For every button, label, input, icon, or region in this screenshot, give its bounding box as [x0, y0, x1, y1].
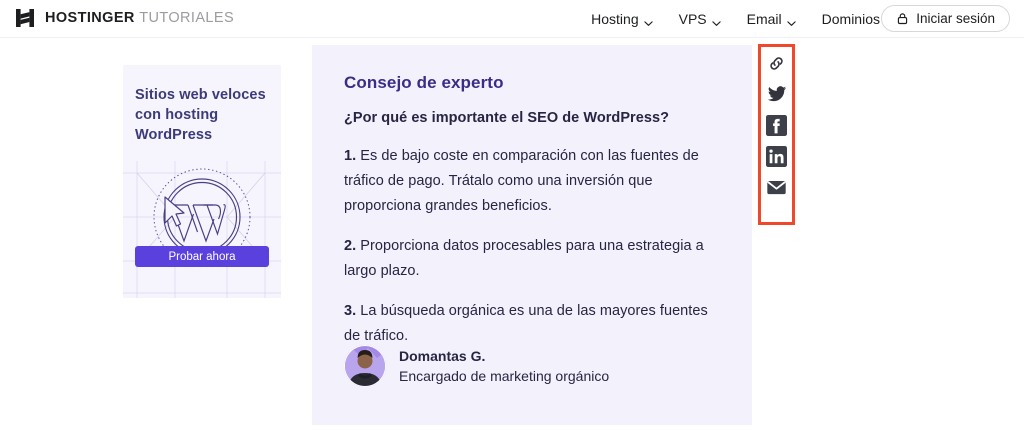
nav-item-label: Hosting	[591, 11, 638, 27]
lock-icon	[896, 12, 909, 25]
twitter-icon[interactable]	[766, 83, 788, 105]
promo-banner[interactable]: Sitios web veloces con hosting WordPress…	[123, 65, 281, 298]
chevron-down-icon	[644, 15, 653, 24]
expert-tip-heading: Consejo de experto	[344, 73, 720, 93]
tip-point-number: 1.	[344, 148, 356, 164]
tip-point-number: 3.	[344, 303, 356, 319]
tip-point-text: La búsqueda orgánica es una de las mayor…	[344, 303, 708, 344]
author-role: Encargado de marketing orgánico	[399, 366, 609, 387]
email-icon[interactable]	[766, 176, 788, 198]
main-nav: Hosting VPS Email Dominios	[591, 0, 894, 38]
facebook-icon[interactable]	[766, 114, 788, 136]
tip-point-text: Proporciona datos procesables para una e…	[344, 238, 704, 279]
tip-point: 1. Es de bajo coste en comparación con l…	[344, 144, 720, 219]
site-header: HOSTINGER TUTORIALES Hosting VPS Email	[0, 0, 1024, 38]
login-button[interactable]: Iniciar sesión	[881, 5, 1010, 32]
page-root: primeros resultados de búsqueda obtienen…	[0, 0, 1024, 446]
brand-logo[interactable]: HOSTINGER TUTORIALES	[14, 7, 234, 29]
nav-item-email[interactable]: Email	[747, 11, 796, 27]
brand-suffix: TUTORIALES	[139, 10, 234, 26]
nav-item-label: Email	[747, 11, 782, 27]
promo-title: Sitios web veloces con hosting WordPress	[135, 85, 275, 145]
nav-item-label: VPS	[679, 11, 707, 27]
chevron-down-icon	[787, 15, 796, 24]
tip-point: 2. Proporciona datos procesables para un…	[344, 234, 720, 284]
login-button-label: Iniciar sesión	[916, 11, 995, 26]
brand-text: HOSTINGER TUTORIALES	[45, 7, 234, 29]
author-block: Domantas G. Encargado de marketing orgán…	[344, 345, 609, 387]
expert-tip-subheading: ¿Por qué es importante el SEO de WordPre…	[344, 110, 720, 126]
linkedin-icon[interactable]	[766, 145, 788, 167]
author-info: Domantas G. Encargado de marketing orgán…	[399, 346, 609, 387]
nav-item-vps[interactable]: VPS	[679, 11, 721, 27]
tip-point-number: 2.	[344, 238, 356, 254]
tip-point: 3. La búsqueda orgánica es una de las ma…	[344, 299, 720, 349]
tip-point-text: Es de bajo coste en comparación con las …	[344, 148, 699, 214]
nav-item-hosting[interactable]: Hosting	[591, 11, 652, 27]
hostinger-h-logo-icon	[14, 7, 36, 29]
copy-link-icon[interactable]	[766, 52, 788, 74]
author-avatar	[344, 345, 386, 387]
chevron-down-icon	[712, 15, 721, 24]
nav-item-label: Dominios	[822, 11, 880, 27]
brand-name: HOSTINGER	[45, 10, 135, 26]
promo-cta-button[interactable]: Probar ahora	[135, 246, 269, 267]
author-name: Domantas G.	[399, 346, 609, 366]
social-share-rail	[758, 44, 795, 225]
expert-tip-card: Consejo de experto ¿Por qué es important…	[312, 45, 752, 425]
